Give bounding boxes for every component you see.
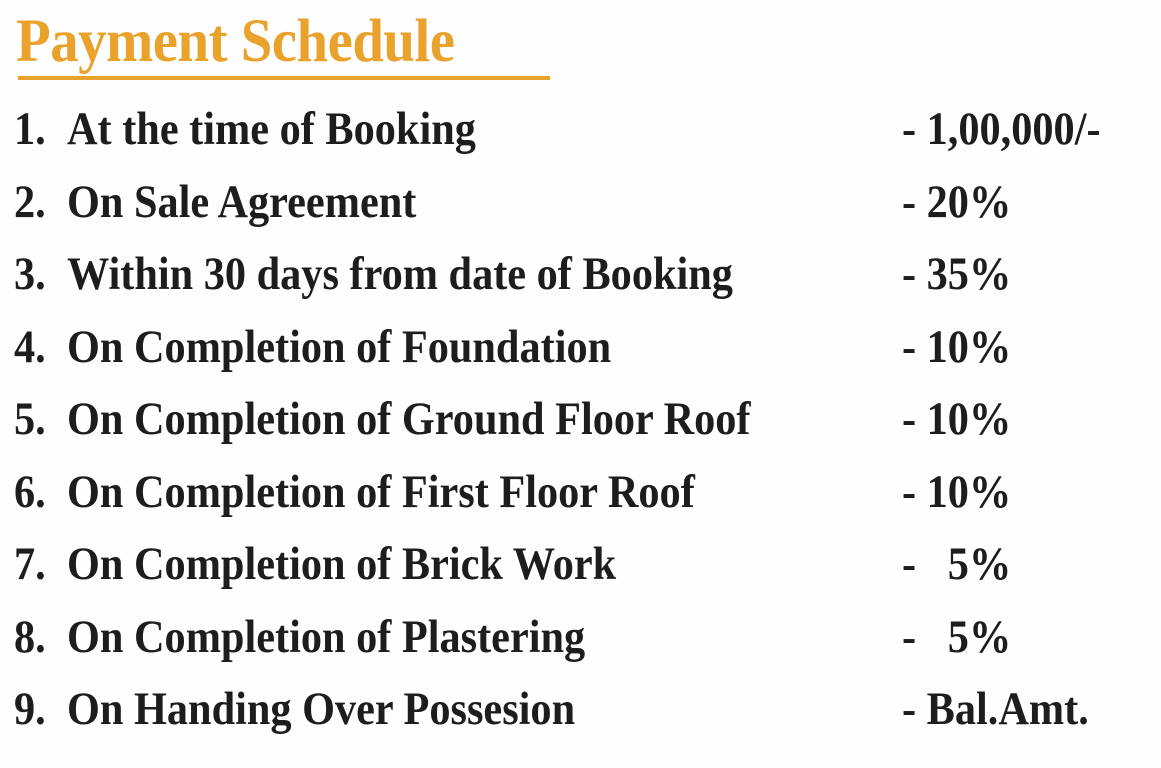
- list-item: 7.On Completion of Brick Work- 5%: [0, 539, 1161, 612]
- list-item-amount-value: - 5%: [902, 539, 1011, 589]
- list-item: 9.On Handing Over Possesion- Bal.Amt.: [0, 684, 1161, 757]
- list-item-milestone-label: At the time of Booking: [67, 104, 476, 154]
- list-item-amount-value: - 35%: [902, 249, 1011, 299]
- title-underline-rule: [18, 76, 550, 80]
- list-item-number: 4.: [14, 322, 59, 372]
- list-item-number: 1.: [14, 104, 59, 154]
- list-item-amount-value: - 1,00,000/-: [902, 104, 1101, 154]
- list-item-milestone-label: On Completion of Ground Floor Roof: [67, 394, 751, 444]
- list-item: 2.On Sale Agreement- 20%: [0, 177, 1161, 250]
- list-item-number: 9.: [14, 684, 59, 734]
- list-item-amount-value: - 20%: [902, 177, 1011, 227]
- list-item: 5.On Completion of Ground Floor Roof- 10…: [0, 394, 1161, 467]
- list-item-milestone-label: Within 30 days from date of Booking: [67, 249, 733, 299]
- page-title: Payment Schedule: [16, 10, 455, 74]
- list-item-amount-value: - 10%: [902, 394, 1011, 444]
- list-item-milestone-label: On Completion of Plastering: [67, 612, 585, 662]
- list-item-amount-value: - 10%: [902, 322, 1011, 372]
- payment-schedule-document: Payment Schedule 1.At the time of Bookin…: [0, 0, 1161, 768]
- list-item: 4.On Completion of Foundation- 10%: [0, 322, 1161, 395]
- list-item-milestone-label: On Sale Agreement: [67, 177, 416, 227]
- list-item-number: 7.: [14, 539, 59, 589]
- list-item-number: 2.: [14, 177, 59, 227]
- list-item: 6.On Completion of First Floor Roof- 10%: [0, 467, 1161, 540]
- list-item-number: 3.: [14, 249, 59, 299]
- list-item: 1.At the time of Booking- 1,00,000/-: [0, 104, 1161, 177]
- list-item-milestone-label: On Completion of First Floor Roof: [67, 467, 695, 517]
- document-title-block: Payment Schedule: [16, 10, 716, 88]
- list-item-milestone-label: On Completion of Brick Work: [67, 539, 616, 589]
- list-item-number: 5.: [14, 394, 59, 444]
- list-item-milestone-label: On Completion of Foundation: [67, 322, 611, 372]
- list-item-number: 8.: [14, 612, 59, 662]
- payment-schedule-list: 1.At the time of Booking- 1,00,000/-2.On…: [0, 104, 1161, 757]
- list-item: 3.Within 30 days from date of Booking- 3…: [0, 249, 1161, 322]
- list-item: 8.On Completion of Plastering- 5%: [0, 612, 1161, 685]
- list-item-amount-value: - Bal.Amt.: [902, 684, 1089, 734]
- list-item-number: 6.: [14, 467, 59, 517]
- list-item-amount-value: - 10%: [902, 467, 1011, 517]
- list-item-amount-value: - 5%: [902, 612, 1011, 662]
- list-item-milestone-label: On Handing Over Possesion: [67, 684, 575, 734]
